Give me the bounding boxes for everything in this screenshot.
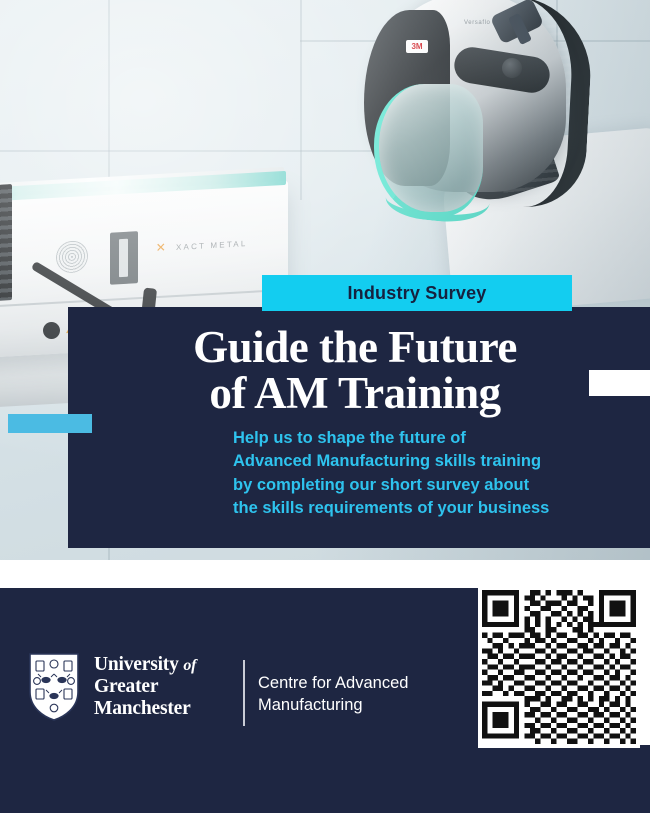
university-name: University of Greater Manchester xyxy=(94,654,196,720)
university-line-1: University of xyxy=(94,654,196,676)
university-of-italic: of xyxy=(183,657,196,674)
qr-code-image xyxy=(482,590,636,744)
university-crest-shield-icon xyxy=(28,652,80,722)
survey-qr-code[interactable] xyxy=(478,586,640,748)
centre-line-2: Manufacturing xyxy=(258,694,408,716)
blue-accent-bar xyxy=(8,414,92,433)
content-panel-inner: Guide the Future of AM Training Help us … xyxy=(68,307,650,548)
poster-root: × XACT METAL Versaflo 3M xyxy=(0,0,650,813)
description-line-1: Help us to shape the future of xyxy=(233,427,620,450)
centre-name: Centre for Advanced Manufacturing xyxy=(258,672,408,717)
banner-label: Industry Survey xyxy=(347,283,486,304)
university-line-3: Manchester xyxy=(94,698,196,720)
footer-base-band xyxy=(0,745,650,813)
description-line-4: the skills requirements of your business xyxy=(233,497,620,520)
logo-divider xyxy=(243,660,245,726)
headline-line-2: of AM Training xyxy=(98,371,612,417)
page-title: Guide the Future of AM Training xyxy=(98,325,620,417)
headline-line-1: Guide the Future xyxy=(98,325,612,371)
content-panel: Guide the Future of AM Training Help us … xyxy=(68,307,650,548)
survey-description: Help us to shape the future of Advanced … xyxy=(98,423,620,521)
university-logo-lockup: University of Greater Manchester xyxy=(28,652,196,722)
centre-line-1: Centre for Advanced xyxy=(258,672,408,694)
description-line-3: by completing our short survey about xyxy=(233,474,620,497)
industry-survey-banner: Industry Survey xyxy=(262,275,572,311)
description-line-2: Advanced Manufacturing skills training xyxy=(233,450,620,473)
white-accent-tab xyxy=(589,370,650,396)
university-line-2: Greater xyxy=(94,676,196,698)
